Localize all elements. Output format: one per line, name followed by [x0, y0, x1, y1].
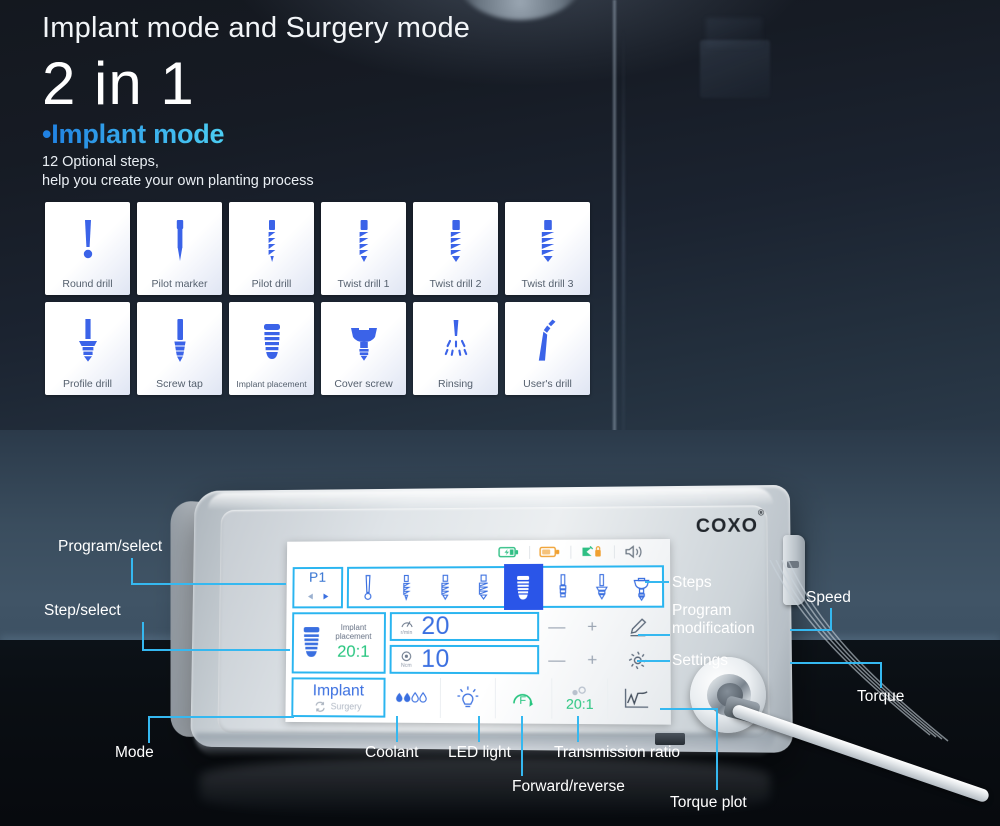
program-label: P1 [309, 570, 327, 584]
round-drill-icon [45, 202, 130, 279]
transmission-ratio-value: 20:1 [566, 697, 594, 711]
callout-forward-reverse: Forward/reverse [512, 778, 625, 797]
screw-tap-icon [137, 302, 222, 379]
step-card-cover-screw[interactable]: Cover screw [321, 302, 406, 395]
value-rows: r/min 20 — + Ncm 10 — [390, 612, 665, 675]
hero-note-line-2: help you create your own planting proces… [42, 172, 662, 191]
callout-torque: Torque [857, 688, 904, 707]
speed-slot-icon [787, 561, 799, 568]
step-card-label: Implant placement [236, 380, 306, 389]
step-icon-profile-drill[interactable] [582, 567, 622, 605]
implant-placement-icon [299, 623, 325, 663]
light-bulb-icon [454, 684, 482, 712]
arrow-right-icon[interactable] [321, 588, 329, 606]
step-card-twist-drill-2[interactable]: Twist drill 2 [413, 202, 498, 295]
current-program-card[interactable]: Implant placement 20:1 [292, 612, 386, 674]
torque-value-box[interactable]: Ncm 10 [390, 645, 540, 674]
callout-settings: Settings [672, 652, 728, 671]
step-card-label: Pilot drill [252, 279, 292, 290]
callout-line-forward [521, 716, 523, 776]
step-card-label: Twist drill 2 [430, 279, 482, 290]
speed-value: 20 [421, 614, 450, 639]
step-card-pilot-drill[interactable]: Pilot drill [229, 202, 314, 295]
steps-grid-row-1: Round drill Pilot marker [45, 202, 601, 295]
callout-program-modification-2: modification [672, 620, 755, 639]
callout-steps: Steps [672, 574, 712, 593]
callout-led-light: LED light [448, 744, 511, 763]
speed-value-box[interactable]: r/min 20 [390, 612, 539, 641]
callout-line-step-v [142, 622, 144, 650]
users-drill-icon [505, 302, 590, 379]
cover-screw-icon [321, 302, 406, 379]
torque-plot-button[interactable] [609, 679, 665, 720]
program-arrows [306, 588, 329, 606]
step-card-round-drill[interactable]: Round drill [45, 202, 130, 295]
speed-control-side-panel[interactable] [783, 535, 805, 605]
lcd-row-values: Implant placement 20:1 r/min 20 — + [292, 612, 665, 675]
step-card-label: Cover screw [334, 379, 392, 390]
lcd-status-bar [287, 539, 670, 565]
callout-line-step-h [142, 649, 290, 651]
callout-line-torqueplot-h [660, 708, 718, 710]
pilot-marker-icon [137, 202, 222, 279]
brand-logo: COXO® [696, 515, 766, 538]
step-card-label: User's drill [523, 379, 572, 390]
speed-plus-button[interactable]: + [574, 618, 610, 635]
step-card-label: Rinsing [438, 379, 473, 390]
background-equipment-box [700, 40, 770, 98]
callout-torque-plot: Torque plot [670, 794, 747, 813]
step-icon-twist-drill-1[interactable] [426, 568, 465, 606]
step-card-rinsing[interactable]: Rinsing [413, 302, 498, 395]
callout-line-program-h [131, 583, 286, 585]
implant-steps-grid: Round drill Pilot marker [45, 202, 601, 402]
program-card-text: Implant placement 20:1 [328, 624, 379, 662]
lcd-row-bottom: Implant Surgery [291, 677, 664, 719]
callout-line-program-v [131, 558, 133, 584]
speed-gauge-icon [400, 618, 413, 629]
callout-program-select: Program/select [58, 538, 162, 557]
swap-icon [315, 701, 326, 712]
callout-line-settings [637, 660, 670, 662]
profile-drill-icon [45, 302, 130, 379]
twist-drill-3-icon [505, 202, 590, 279]
mode-toggle-button[interactable]: Implant Surgery [291, 677, 385, 717]
callout-line-transmission [577, 716, 579, 742]
step-icon-screw-tap[interactable] [543, 568, 583, 606]
step-card-profile-drill[interactable]: Profile drill [45, 302, 130, 395]
torque-plot-icon [622, 687, 651, 712]
lcd-row-program-steps: P1 [292, 565, 664, 608]
brand-logo-text: COXO [696, 515, 758, 537]
callout-line-speed-h [790, 629, 832, 631]
callout-line-torque-h [790, 662, 882, 664]
mode-primary-label: Implant [313, 683, 364, 699]
torque-minus-button[interactable]: — [539, 651, 574, 668]
step-card-label: Round drill [62, 279, 112, 290]
callout-coolant: Coolant [365, 744, 418, 763]
steps-grid-row-2: Profile drill Screw tap [45, 302, 601, 395]
forward-reverse-button[interactable]: F [496, 678, 552, 719]
program-name-line-2: placement [328, 633, 379, 642]
step-card-label: Twist drill 1 [338, 279, 390, 290]
page-title: Implant mode and Surgery mode [42, 10, 662, 46]
speaker-icon[interactable] [615, 545, 656, 558]
step-icon-pilot-drill[interactable] [387, 568, 426, 606]
device-touchscreen[interactable]: P1 [285, 539, 671, 725]
twist-drill-1-icon [321, 202, 406, 279]
step-card-label: Pilot marker [151, 279, 207, 290]
hero-subtitle: •Implant mode [42, 119, 224, 150]
callout-line-torqueplot-v [716, 708, 718, 790]
callout-line-speed-v [830, 608, 832, 630]
torque-plus-button[interactable]: + [575, 651, 611, 668]
speed-unit: r/min [397, 618, 417, 636]
step-card-label: Screw tap [156, 379, 203, 390]
led-light-button[interactable] [440, 678, 496, 718]
torque-row: Ncm 10 — + [390, 645, 665, 675]
program-ratio: 20:1 [328, 643, 379, 662]
callout-transmission-ratio: Transmission ratio [554, 744, 680, 763]
program-select-button[interactable]: P1 [292, 567, 343, 608]
torque-icon [400, 650, 412, 661]
callout-line-progmod [638, 634, 670, 636]
step-card-implant-placement[interactable]: Implant placement [229, 302, 314, 395]
hero-text-block: Implant mode and Surgery mode 2 in 1 •Im… [42, 10, 662, 192]
callout-mode: Mode [115, 744, 154, 763]
mode-secondary: Surgery [315, 701, 362, 712]
transmission-ratio-button[interactable]: 20:1 [552, 678, 609, 719]
callout-program-modification-1: Program [672, 602, 731, 621]
callout-line-mode-v [148, 717, 150, 743]
step-card-users-drill[interactable]: User's drill [505, 302, 590, 395]
rinsing-icon [413, 302, 498, 379]
callout-line-steps [645, 581, 669, 583]
speed-unit-label: r/min [401, 630, 413, 636]
speed-row: r/min 20 — + [390, 612, 665, 641]
hero-note: 12 Optional steps, help you create your … [42, 153, 662, 191]
callout-step-select: Step/select [44, 602, 121, 621]
implant-placement-icon [229, 302, 314, 380]
callout-line-torque-v [880, 662, 882, 688]
step-icon-cover-screw[interactable] [622, 567, 662, 605]
step-card-label: Twist drill 3 [522, 279, 574, 290]
forward-f-icon: F [508, 684, 538, 712]
steps-strip[interactable] [347, 565, 664, 608]
callout-line-led [478, 716, 480, 742]
callout-line-mode-h [148, 716, 294, 718]
svg-text:F: F [520, 695, 527, 707]
step-card-label: Profile drill [63, 379, 112, 390]
twist-drill-2-icon [413, 202, 498, 279]
callout-line-coolant [396, 716, 398, 742]
step-icon-twist-drill-2[interactable] [464, 568, 503, 606]
arrow-left-icon[interactable] [306, 588, 314, 606]
step-card-twist-drill-3[interactable]: Twist drill 3 [505, 202, 590, 295]
step-icon-implant-placement[interactable] [504, 564, 543, 610]
step-icon-round-drill[interactable] [349, 569, 388, 607]
signal-lock-icon [571, 545, 615, 558]
hero-headline: 2 in 1 [42, 52, 662, 115]
torque-unit: Ncm [396, 650, 416, 668]
step-card-twist-drill-1[interactable]: Twist drill 1 [321, 202, 406, 295]
speed-minus-button[interactable]: — [539, 618, 574, 635]
step-card-pilot-marker[interactable]: Pilot marker [137, 202, 222, 295]
step-card-screw-tap[interactable]: Screw tap [137, 302, 222, 395]
callout-speed: Speed [806, 589, 851, 608]
mode-secondary-label: Surgery [331, 701, 362, 711]
torque-value: 10 [421, 647, 450, 672]
registered-mark: ® [758, 508, 765, 517]
coolant-button[interactable] [385, 678, 440, 718]
water-drops-icon [395, 690, 431, 706]
hero-note-line-1: 12 Optional steps, [42, 153, 662, 172]
battery-level-icon [530, 545, 571, 558]
pilot-drill-icon [229, 202, 314, 279]
battery-charging-icon [489, 545, 530, 558]
torque-unit-label: Ncm [401, 662, 412, 668]
